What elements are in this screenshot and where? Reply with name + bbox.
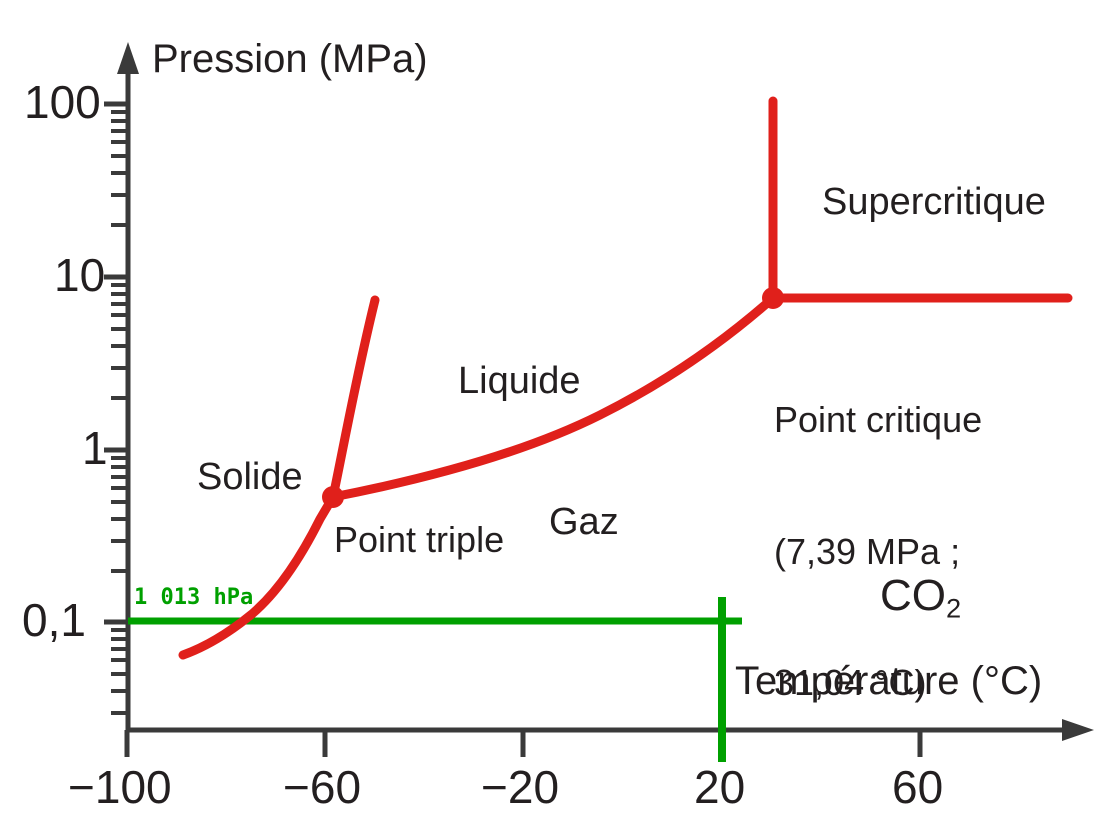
phase-diagram-figure: Pression (MPa) Température (°C) 100 10 1…	[0, 0, 1116, 839]
substance-formula: CO2	[880, 570, 961, 625]
reference-pressure-label: 1 013 hPa	[134, 585, 253, 611]
callout-point-critique: Point critique (7,39 MPa ; 31,04 °C)	[774, 310, 982, 793]
x-tick-label-m100: −100	[68, 760, 172, 814]
region-label-liquide: Liquide	[458, 359, 581, 404]
callout-point-triple: Point triple	[334, 519, 504, 561]
y-major-ticks	[104, 104, 128, 622]
fusion-curve	[333, 300, 375, 497]
callout-point-critique-line2: (7,39 MPa ;	[774, 530, 982, 574]
x-tick-label-20: 20	[694, 760, 745, 814]
y-tick-label-10: 10	[54, 248, 105, 302]
reference-lines	[128, 597, 742, 762]
y-tick-label-0-1: 0,1	[22, 593, 86, 647]
region-label-solide: Solide	[197, 455, 303, 500]
x-tick-label-m20: −20	[481, 760, 559, 814]
callout-point-critique-line1: Point critique	[774, 398, 982, 442]
y-tick-label-1: 1	[82, 421, 108, 475]
y-axis-arrowhead	[117, 42, 139, 74]
y-axis-title: Pression (MPa)	[152, 36, 428, 83]
x-tick-label-m60: −60	[283, 760, 361, 814]
region-label-supercritique: Supercritique	[822, 180, 1046, 225]
critical-point-marker	[762, 287, 784, 309]
callout-point-critique-line3: 31,04 °C)	[774, 661, 982, 705]
substance-formula-subscript: 2	[946, 593, 961, 624]
region-label-gaz: Gaz	[549, 500, 619, 545]
sublimation-curve	[183, 497, 333, 655]
triple-point-marker	[322, 486, 344, 508]
substance-formula-base: CO	[880, 571, 946, 620]
x-axis-arrowhead	[1062, 719, 1094, 741]
y-tick-label-100: 100	[24, 75, 101, 129]
